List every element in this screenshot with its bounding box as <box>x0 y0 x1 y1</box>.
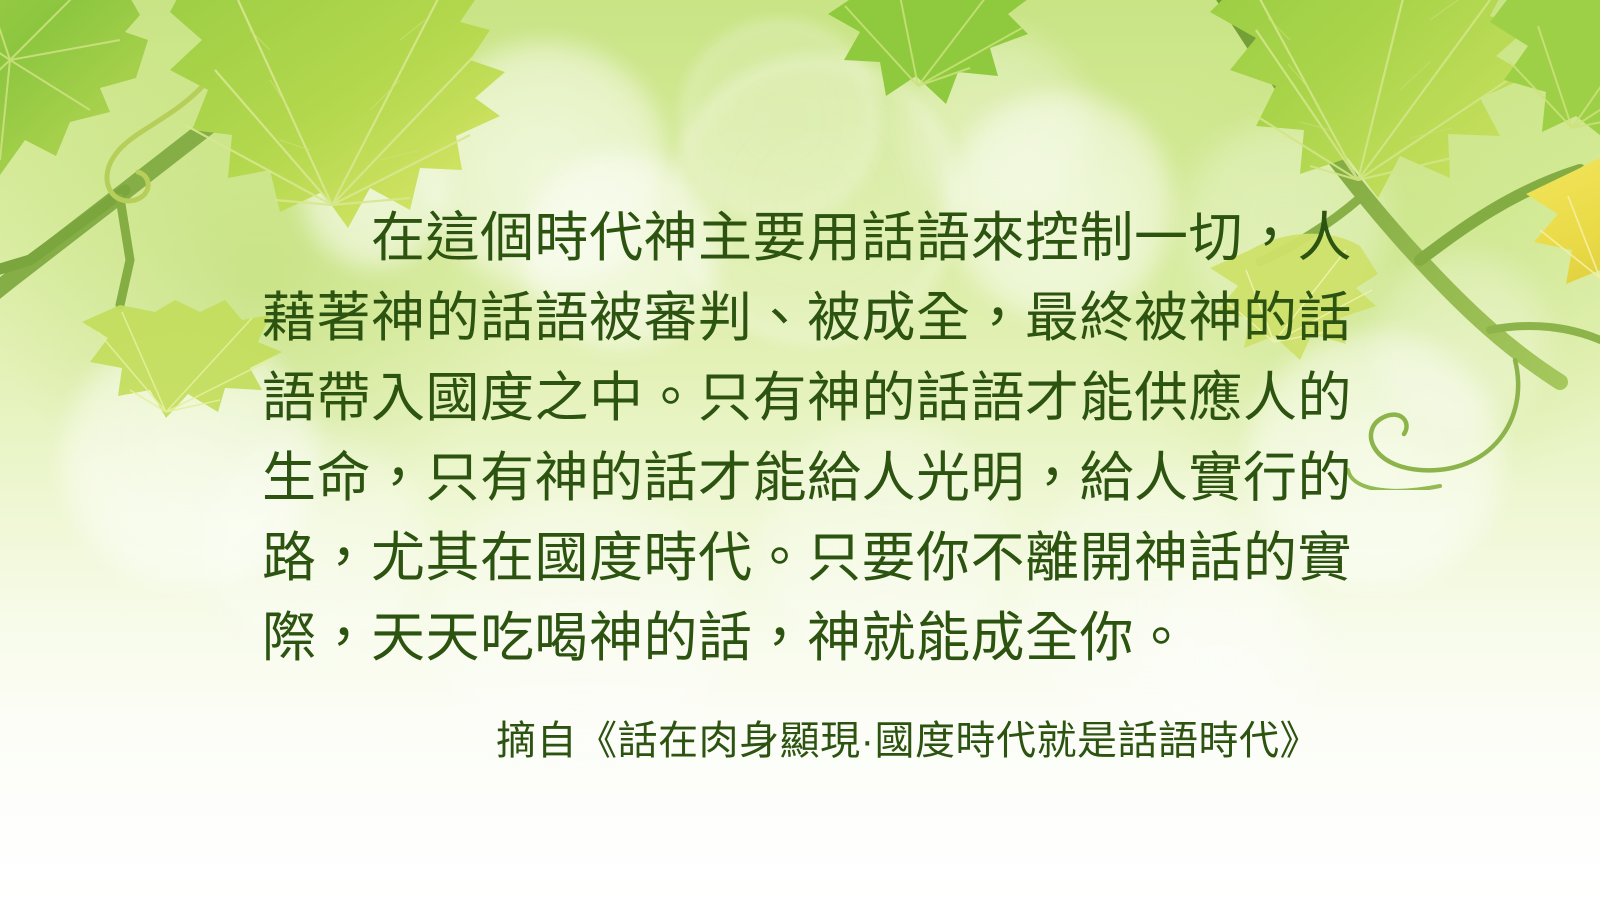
quote-card: 在這個時代神主要用話語來控制一切，人 藉著神的話語被審判、被成全，最終被神的話 … <box>0 0 1600 900</box>
quote-line: 語帶入國度之中。只有神的話語才能供應人的 <box>262 358 1322 438</box>
quote-line: 際，天天吃喝神的話，神就能成全你。 <box>262 598 1322 678</box>
quote-line: 路，尤其在國度時代。只要你不離開神話的實 <box>262 518 1322 598</box>
quote-text-block: 在這個時代神主要用話語來控制一切，人 藉著神的話語被審判、被成全，最終被神的話 … <box>262 198 1322 678</box>
quote-attribution: 摘自《話在肉身顯現·國度時代就是話語時代》 <box>262 712 1320 770</box>
quote-line: 藉著神的話語被審判、被成全，最終被神的話 <box>262 278 1322 358</box>
quote-line: 生命，只有神的話才能給人光明，給人實行的 <box>262 438 1322 518</box>
quote-line: 在這個時代神主要用話語來控制一切，人 <box>262 198 1322 278</box>
